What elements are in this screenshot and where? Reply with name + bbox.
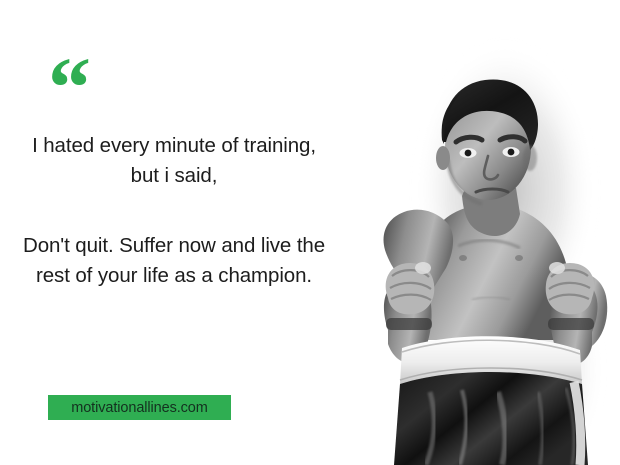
- quote-text-line-1: I hated every minute of training, but i …: [18, 131, 330, 191]
- boxer-photo: LONSDALE: [330, 0, 620, 465]
- quote-column: “ I hated every minute of training, but …: [0, 0, 340, 465]
- site-badge[interactable]: motivationallines.com: [48, 395, 231, 420]
- boxer-portrait-illustration: [330, 0, 620, 465]
- double-quote-mark-icon: “: [48, 44, 89, 130]
- quote-text-line-2: Don't quit. Suffer now and live the rest…: [18, 231, 330, 291]
- site-badge-label: motivationallines.com: [71, 400, 208, 416]
- quote-card: “ I hated every minute of training, but …: [0, 0, 620, 465]
